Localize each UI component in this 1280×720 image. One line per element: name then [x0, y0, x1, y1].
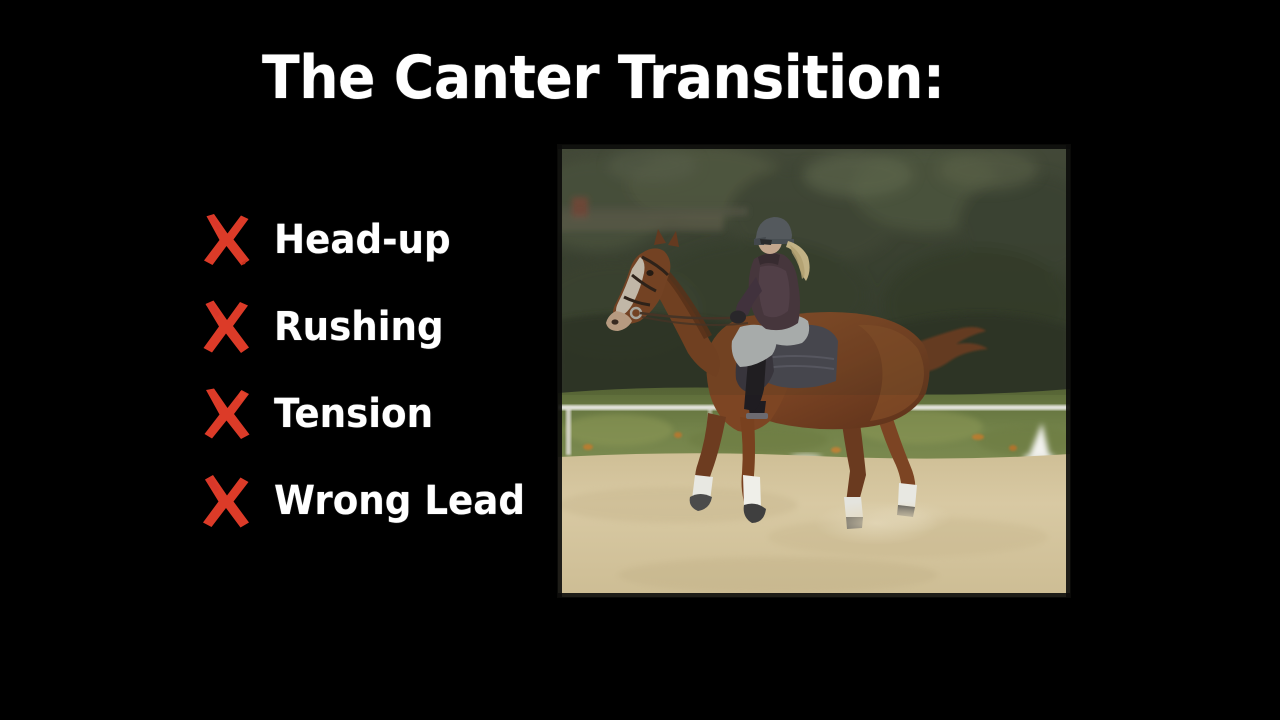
- fault-list: Head-up Rushing Tension: [200, 196, 540, 544]
- fault-label: Rushing: [274, 305, 444, 349]
- slide-canvas: The Canter Transition: Head-up Rushing: [0, 0, 1280, 720]
- fault-label: Head-up: [274, 218, 451, 262]
- list-item: Head-up: [200, 196, 540, 283]
- page-title: The Canter Transition:: [262, 46, 945, 110]
- red-x-mark-icon: [200, 386, 252, 442]
- red-x-mark-icon: [200, 473, 252, 529]
- list-item: Wrong Lead: [200, 457, 540, 544]
- video-still-image: [558, 145, 1070, 597]
- red-x-mark-icon: [200, 212, 252, 268]
- fault-label: Tension: [274, 392, 433, 436]
- red-x-mark-icon: [200, 299, 252, 355]
- list-item: Rushing: [200, 283, 540, 370]
- list-item: Tension: [200, 370, 540, 457]
- fault-label: Wrong Lead: [274, 479, 525, 523]
